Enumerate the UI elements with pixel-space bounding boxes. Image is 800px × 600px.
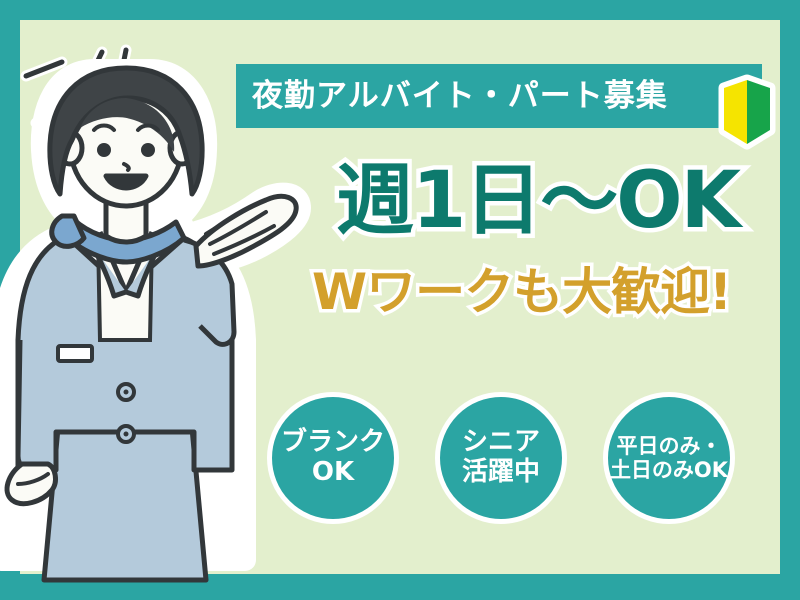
headline-text: 週1日〜OK [336,162,739,240]
badge-line-2: 活躍中 [462,458,540,488]
headline: 週1日〜OK [336,155,766,247]
badge-line-1: 平日のみ・ [617,434,722,458]
badge-weekday-weekend-ok: 平日のみ・ 土日のみOK [603,392,735,524]
badge-senior-active: シニア 活躍中 [435,392,567,524]
header-banner: 夜勤アルバイト・パート募集 [236,64,762,128]
badge-line-2: OK [312,458,354,488]
subheadline: Wワークも大歓迎! [312,262,772,322]
subheadline-text: Wワークも大歓迎! [312,267,731,317]
badge-line-2: 土日のみOK [610,458,728,482]
badge-blank-ok: ブランク OK [267,392,399,524]
badge-line-1: ブランク [281,428,385,458]
badge-line-1: シニア [462,428,540,458]
beginner-leaf-mark-icon [716,74,778,150]
header-banner-text: 夜勤アルバイト・パート募集 [252,81,668,112]
poster-root: 夜勤アルバイト・パート募集 週1日〜OK Wワークも大歓迎! ブランク OK シ… [0,0,800,600]
